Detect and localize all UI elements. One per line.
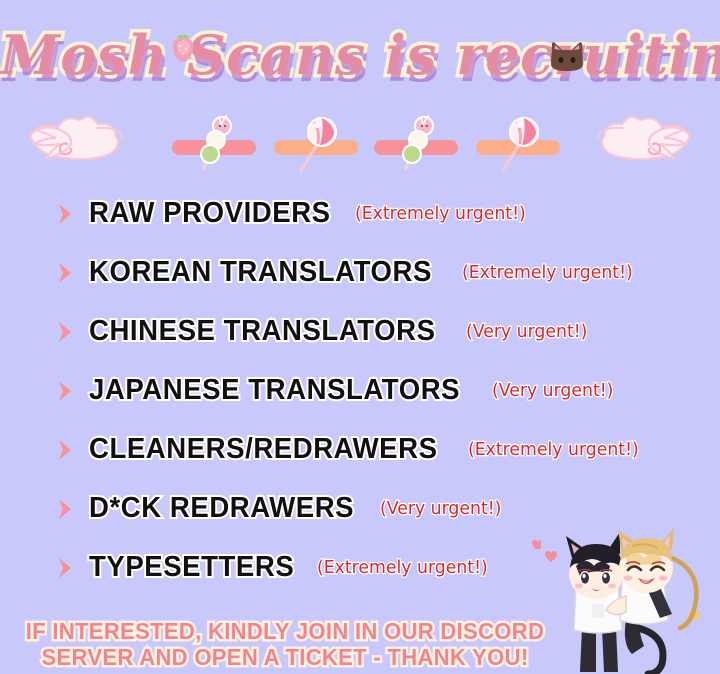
chevron-right-icon xyxy=(57,380,73,402)
role-name: TYPESETTERS xyxy=(89,551,294,584)
recruitment-poster: Mosh Scans is recruiting! xyxy=(0,0,720,674)
chevron-right-icon xyxy=(57,321,73,343)
list-item: CHINESE TRANSLATORS (Very urgent!) xyxy=(0,302,720,361)
list-item: JAPANESE TRANSLATORS (Very urgent!) xyxy=(0,361,720,420)
role-urgency: (Extremely urgent!) xyxy=(462,262,633,283)
decorative-divider xyxy=(0,100,720,172)
role-urgency: (Extremely urgent!) xyxy=(355,203,526,224)
role-urgency: (Very urgent!) xyxy=(466,321,587,342)
winged-cloud-icon-left xyxy=(26,102,148,172)
list-item: RAW PROVIDERS (Extremely urgent!) xyxy=(0,184,720,243)
strawberry-icon xyxy=(166,30,200,64)
title-block: Mosh Scans is recruiting! xyxy=(0,14,720,98)
role-urgency: (Very urgent!) xyxy=(492,380,613,401)
role-urgency: (Extremely urgent!) xyxy=(468,439,639,460)
list-item: KOREAN TRANSLATORS (Extremely urgent!) xyxy=(0,243,720,302)
winged-cloud-icon-right xyxy=(572,102,694,172)
chevron-right-icon xyxy=(57,557,73,579)
footer-note: IF INTERESTED, KINDLY JOIN IN OUR DISCOR… xyxy=(0,618,570,670)
role-name: JAPANESE TRANSLATORS xyxy=(89,374,460,407)
footer-line-2: SERVER AND OPEN A TICKET - THANK YOU! xyxy=(11,644,558,670)
list-item: CLEANERS/REDRAWERS (Extremely urgent!) xyxy=(0,420,720,479)
lollipop-icon-2 xyxy=(496,112,542,174)
chevron-right-icon xyxy=(57,262,73,284)
chevron-right-icon xyxy=(57,203,73,225)
role-urgency: (Very urgent!) xyxy=(380,498,501,519)
role-urgency: (Extremely urgent!) xyxy=(317,557,488,578)
lollipop-icon-1 xyxy=(294,112,340,174)
dango-skewer-icon-1 xyxy=(192,112,238,174)
role-name: CLEANERS/REDRAWERS xyxy=(89,433,438,466)
dango-skewer-icon-2 xyxy=(394,112,440,174)
chevron-right-icon xyxy=(57,439,73,461)
chevron-right-icon xyxy=(57,498,73,520)
footer-line-1: IF INTERESTED, KINDLY JOIN IN OUR DISCOR… xyxy=(11,618,558,644)
role-name: RAW PROVIDERS xyxy=(89,197,331,230)
role-name: KOREAN TRANSLATORS xyxy=(89,256,432,289)
cat-ears-icon xyxy=(548,38,586,72)
role-name: D*CK REDRAWERS xyxy=(89,492,354,525)
page-title: Mosh Scans is recruiting! xyxy=(0,14,720,96)
role-name: CHINESE TRANSLATORS xyxy=(89,315,436,348)
